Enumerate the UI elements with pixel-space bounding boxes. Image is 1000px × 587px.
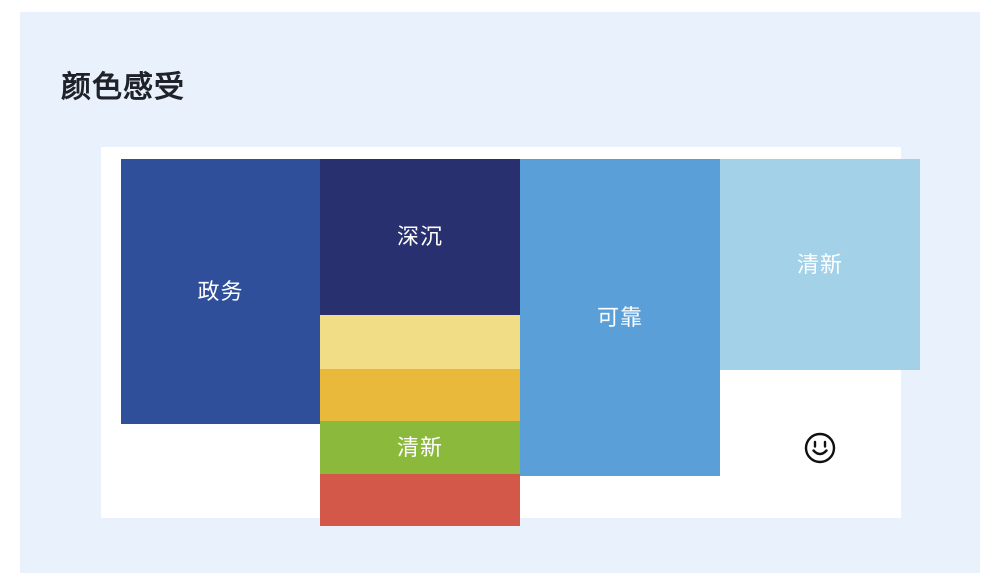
smiley-face-icon xyxy=(720,370,920,526)
chart-column-可靠: 可靠 xyxy=(520,147,720,518)
slide-canvas: 颜色感受 政务深沉清新可靠清新 xyxy=(20,12,980,573)
swatch-label: 清新 xyxy=(797,254,843,276)
swatch-label: 清新 xyxy=(397,437,443,459)
color-swatch xyxy=(320,315,520,369)
swatch-label: 深沉 xyxy=(397,226,443,248)
color-swatch: 深沉 xyxy=(320,159,520,315)
color-swatch: 可靠 xyxy=(520,159,720,476)
color-swatch: 清新 xyxy=(320,421,520,474)
chart-column-政务: 政务 xyxy=(121,147,320,518)
color-swatch xyxy=(320,474,520,526)
swatch-label: 政务 xyxy=(197,281,243,303)
color-mosaic-chart: 政务深沉清新可靠清新 xyxy=(101,147,901,518)
color-swatch xyxy=(320,369,520,421)
chart-column-深沉: 深沉清新 xyxy=(320,147,520,518)
swatch-label: 可靠 xyxy=(597,307,643,329)
color-swatch: 清新 xyxy=(720,159,920,370)
page-title: 颜色感受 xyxy=(61,62,185,106)
color-swatch: 政务 xyxy=(121,159,320,424)
